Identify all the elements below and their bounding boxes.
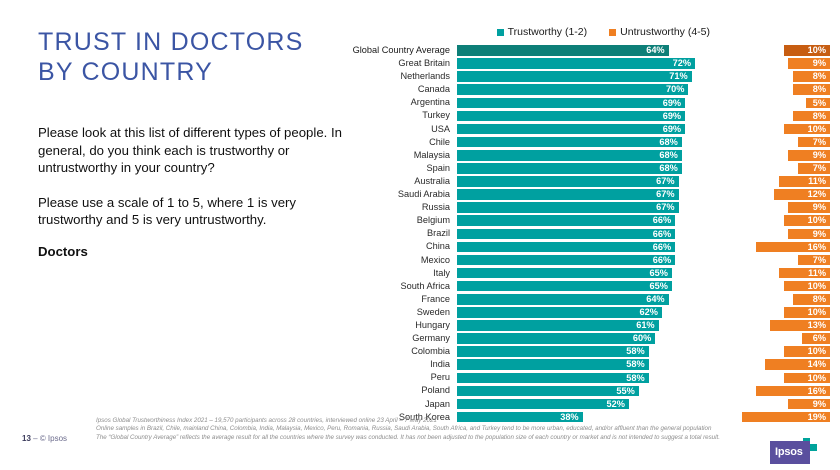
untrustworthy-bar[interactable]: 6% xyxy=(802,333,830,344)
untrustworthy-bar-area: 9% xyxy=(698,229,830,240)
trustworthy-bar[interactable]: 58% xyxy=(457,359,649,370)
untrustworthy-bar[interactable]: 10% xyxy=(784,281,830,292)
trustworthy-bar-area: 66% xyxy=(457,215,697,226)
chart-row: Spain68%7% xyxy=(340,162,840,175)
untrustworthy-bar[interactable]: 16% xyxy=(756,242,830,253)
trustworthy-bar-area: 61% xyxy=(457,320,697,331)
trustworthy-bar-area: 65% xyxy=(457,268,697,279)
trustworthy-bar[interactable]: 66% xyxy=(457,255,675,266)
untrustworthy-value: 8% xyxy=(813,294,826,305)
chart-row: Canada70%8% xyxy=(340,83,840,96)
trustworthy-bar-area: 68% xyxy=(457,163,697,174)
page-number: 13 – © Ipsos xyxy=(22,434,67,443)
untrustworthy-value: 10% xyxy=(808,281,826,292)
logo-wordmark: Ipsos xyxy=(775,446,803,458)
trustworthy-bar-area: 58% xyxy=(457,373,697,384)
untrustworthy-value: 10% xyxy=(808,346,826,357)
untrustworthy-bar[interactable]: 13% xyxy=(770,320,830,331)
category-label: Mexico xyxy=(340,254,450,267)
trustworthy-bar-area: 69% xyxy=(457,98,697,109)
untrustworthy-bar[interactable]: 9% xyxy=(788,229,830,240)
chart-row: Japan52%9% xyxy=(340,398,840,411)
untrustworthy-bar[interactable]: 5% xyxy=(806,98,830,109)
untrustworthy-bar-area: 5% xyxy=(698,98,830,109)
question-paragraph-1: Please look at this list of different ty… xyxy=(38,124,348,177)
ipsos-logo: Ipsos xyxy=(770,438,822,464)
chart-row: South Africa65%10% xyxy=(340,280,840,293)
untrustworthy-bar-area: 7% xyxy=(698,163,830,174)
chart-row: Saudi Arabia67%12% xyxy=(340,188,840,201)
untrustworthy-value: 16% xyxy=(808,242,826,253)
trustworthy-bar[interactable]: 70% xyxy=(457,84,688,95)
untrustworthy-value: 14% xyxy=(808,359,826,370)
trustworthy-value: 66% xyxy=(653,215,671,226)
untrustworthy-bar[interactable]: 10% xyxy=(784,307,830,318)
category-label: Brazil xyxy=(340,227,450,240)
trustworthy-bar-area: 69% xyxy=(457,124,697,135)
untrustworthy-value: 12% xyxy=(808,189,826,200)
untrustworthy-value: 6% xyxy=(813,333,826,344)
untrustworthy-value: 8% xyxy=(813,111,826,122)
trustworthy-bar[interactable]: 69% xyxy=(457,111,685,122)
category-label: Colombia xyxy=(340,345,450,358)
untrustworthy-bar[interactable]: 8% xyxy=(793,84,830,95)
trustworthy-value: 58% xyxy=(626,346,644,357)
trustworthy-bar[interactable]: 71% xyxy=(457,71,692,82)
untrustworthy-value: 13% xyxy=(808,320,826,331)
trustworthy-bar[interactable]: 66% xyxy=(457,215,675,226)
trustworthy-value: 72% xyxy=(673,58,691,69)
untrustworthy-bar[interactable]: 7% xyxy=(798,137,830,148)
untrustworthy-bar[interactable]: 7% xyxy=(798,163,830,174)
trustworthy-value: 64% xyxy=(646,45,664,56)
category-label: Sweden xyxy=(340,306,450,319)
untrustworthy-bar[interactable]: 16% xyxy=(756,386,830,397)
legend-label-untrustworthy: Untrustworthy (4-5) xyxy=(620,26,710,38)
trustworthy-value: 68% xyxy=(659,163,677,174)
trustworthy-value: 64% xyxy=(646,294,664,305)
chart-row: Colombia58%10% xyxy=(340,345,840,358)
untrustworthy-bar[interactable]: 9% xyxy=(788,150,830,161)
trustworthy-bar[interactable]: 69% xyxy=(457,98,685,109)
legend-item-untrustworthy[interactable]: Untrustworthy (4-5) xyxy=(609,26,710,38)
untrustworthy-bar-area: 10% xyxy=(698,215,830,226)
trustworthy-bar-area: 67% xyxy=(457,202,697,213)
trustworthy-bar[interactable]: 58% xyxy=(457,373,649,384)
untrustworthy-value: 7% xyxy=(813,163,826,174)
category-label: Canada xyxy=(340,83,450,96)
page-title-line1: TRUST IN DOCTORS xyxy=(38,27,338,57)
untrustworthy-value: 7% xyxy=(813,255,826,266)
legend-label-trustworthy: Trustworthy (1-2) xyxy=(508,26,588,38)
page-number-value: 13 xyxy=(22,434,31,443)
trustworthy-value: 71% xyxy=(669,71,687,82)
question-block: Please look at this list of different ty… xyxy=(38,124,348,229)
untrustworthy-value: 9% xyxy=(813,150,826,161)
untrustworthy-bar-area: 12% xyxy=(698,189,830,200)
question-subject: Doctors xyxy=(38,244,88,259)
chart-row: Italy65%11% xyxy=(340,267,840,280)
trustworthy-bar-area: 55% xyxy=(457,386,697,397)
chart: Trustworthy (1-2) Untrustworthy (4-5) Gl… xyxy=(340,26,840,421)
question-paragraph-2: Please use a scale of 1 to 5, where 1 is… xyxy=(38,194,348,229)
trustworthy-bar[interactable]: 58% xyxy=(457,346,649,357)
untrustworthy-bar-area: 16% xyxy=(698,242,830,253)
trustworthy-value: 67% xyxy=(656,189,674,200)
chart-row: Australia67%11% xyxy=(340,175,840,188)
chart-row: USA69%10% xyxy=(340,123,840,136)
trustworthy-bar-area: 65% xyxy=(457,281,697,292)
trustworthy-value: 67% xyxy=(656,176,674,187)
category-label: Saudi Arabia xyxy=(340,188,450,201)
trustworthy-bar[interactable]: 55% xyxy=(457,386,639,397)
untrustworthy-bar[interactable]: 10% xyxy=(784,45,830,56)
untrustworthy-bar[interactable]: 9% xyxy=(788,202,830,213)
untrustworthy-bar[interactable]: 11% xyxy=(779,176,830,187)
untrustworthy-bar[interactable]: 10% xyxy=(784,124,830,135)
untrustworthy-value: 11% xyxy=(808,176,826,187)
chart-row: Sweden62%10% xyxy=(340,306,840,319)
trustworthy-bar[interactable]: 72% xyxy=(457,58,695,69)
trustworthy-value: 58% xyxy=(626,373,644,384)
trustworthy-bar-area: 70% xyxy=(457,84,697,95)
category-label: Poland xyxy=(340,384,450,397)
footnote: Ipsos Global Trustworthiness Index 2021 … xyxy=(96,417,746,442)
trustworthy-bar-area: 62% xyxy=(457,307,697,318)
left-panel: TRUST IN DOCTORS BY COUNTRY Please look … xyxy=(0,0,350,470)
trustworthy-bar-area: 58% xyxy=(457,346,697,357)
untrustworthy-value: 9% xyxy=(813,58,826,69)
untrustworthy-value: 10% xyxy=(808,215,826,226)
legend-swatch-untrustworthy xyxy=(609,29,616,36)
trustworthy-bar[interactable]: 62% xyxy=(457,307,662,318)
untrustworthy-bar-area: 10% xyxy=(698,45,830,56)
trustworthy-bar[interactable]: 68% xyxy=(457,137,682,148)
footnote-line-1: Ipsos Global Trustworthiness Index 2021 … xyxy=(96,417,746,425)
slide: TRUST IN DOCTORS BY COUNTRY Please look … xyxy=(0,0,840,470)
untrustworthy-value: 11% xyxy=(808,268,826,279)
chart-row: Malaysia68%9% xyxy=(340,149,840,162)
trustworthy-bar[interactable]: 65% xyxy=(457,268,672,279)
category-label: Spain xyxy=(340,162,450,175)
trustworthy-bar[interactable]: 67% xyxy=(457,176,679,187)
trustworthy-bar-area: 52% xyxy=(457,399,697,410)
trustworthy-bar[interactable]: 60% xyxy=(457,333,655,344)
footnote-line-3: The “Global Country Average” reflects th… xyxy=(96,434,746,442)
untrustworthy-value: 10% xyxy=(808,124,826,135)
trustworthy-value: 67% xyxy=(656,202,674,213)
chart-row: Peru58%10% xyxy=(340,371,840,384)
untrustworthy-bar[interactable]: 8% xyxy=(793,111,830,122)
untrustworthy-bar-area: 8% xyxy=(698,71,830,82)
category-label: Netherlands xyxy=(340,70,450,83)
chart-row: Chile68%7% xyxy=(340,136,840,149)
page-title: TRUST IN DOCTORS BY COUNTRY xyxy=(38,27,338,87)
untrustworthy-bar-area: 13% xyxy=(698,320,830,331)
chart-row: Global Country Average64%10% xyxy=(340,44,840,57)
trustworthy-bar[interactable]: 52% xyxy=(457,399,629,410)
category-label: Italy xyxy=(340,267,450,280)
chart-row: France64%8% xyxy=(340,293,840,306)
trustworthy-value: 69% xyxy=(663,98,681,109)
trustworthy-value: 60% xyxy=(633,333,651,344)
trustworthy-bar-area: 68% xyxy=(457,150,697,161)
trustworthy-bar[interactable]: 67% xyxy=(457,189,679,200)
chart-row: Great Britain72%9% xyxy=(340,57,840,70)
legend-swatch-trustworthy xyxy=(497,29,504,36)
untrustworthy-bar[interactable]: 8% xyxy=(793,294,830,305)
trustworthy-bar-area: 67% xyxy=(457,189,697,200)
untrustworthy-bar-area: 10% xyxy=(698,373,830,384)
category-label: Peru xyxy=(340,371,450,384)
chart-row: Belgium66%10% xyxy=(340,214,840,227)
trustworthy-bar-area: 69% xyxy=(457,111,697,122)
category-label: Germany xyxy=(340,332,450,345)
untrustworthy-bar[interactable]: 14% xyxy=(765,359,830,370)
trustworthy-bar[interactable]: 69% xyxy=(457,124,685,135)
copyright-label: – © Ipsos xyxy=(33,434,67,443)
untrustworthy-bar-area: 8% xyxy=(698,84,830,95)
trustworthy-value: 65% xyxy=(650,268,668,279)
category-label: China xyxy=(340,240,450,253)
untrustworthy-bar-area: 8% xyxy=(698,111,830,122)
trustworthy-value: 55% xyxy=(616,386,634,397)
trustworthy-bar-area: 64% xyxy=(457,45,697,56)
untrustworthy-bar-area: 7% xyxy=(698,137,830,148)
untrustworthy-bar[interactable]: 9% xyxy=(788,399,830,410)
category-label: Hungary xyxy=(340,319,450,332)
untrustworthy-bar[interactable]: 10% xyxy=(784,373,830,384)
trustworthy-bar-area: 72% xyxy=(457,58,697,69)
category-label: Argentina xyxy=(340,96,450,109)
chart-row: Argentina69%5% xyxy=(340,96,840,109)
untrustworthy-bar-area: 10% xyxy=(698,281,830,292)
chart-row: Russia67%9% xyxy=(340,201,840,214)
trustworthy-bar-area: 60% xyxy=(457,333,697,344)
untrustworthy-value: 9% xyxy=(813,202,826,213)
untrustworthy-value: 9% xyxy=(813,399,826,410)
trustworthy-bar-area: 66% xyxy=(457,242,697,253)
chart-row: Poland55%16% xyxy=(340,384,840,397)
category-label: Chile xyxy=(340,136,450,149)
category-label: Belgium xyxy=(340,214,450,227)
untrustworthy-bar-area: 16% xyxy=(698,386,830,397)
trustworthy-value: 69% xyxy=(663,124,681,135)
trustworthy-bar-area: 67% xyxy=(457,176,697,187)
chart-legend: Trustworthy (1-2) Untrustworthy (4-5) xyxy=(497,26,710,38)
untrustworthy-bar-area: 11% xyxy=(698,176,830,187)
category-label: Russia xyxy=(340,201,450,214)
category-label: Turkey xyxy=(340,109,450,122)
chart-row: Turkey69%8% xyxy=(340,109,840,122)
untrustworthy-value: 8% xyxy=(813,71,826,82)
trustworthy-value: 52% xyxy=(607,399,625,410)
trustworthy-value: 65% xyxy=(650,281,668,292)
paragraph-spacer xyxy=(38,177,348,194)
trustworthy-bar-area: 58% xyxy=(457,359,697,370)
untrustworthy-bar[interactable]: 19% xyxy=(742,412,830,423)
trustworthy-value: 66% xyxy=(653,255,671,266)
trustworthy-bar[interactable]: 65% xyxy=(457,281,672,292)
trustworthy-bar[interactable]: 66% xyxy=(457,242,675,253)
untrustworthy-bar-area: 9% xyxy=(698,202,830,213)
category-label: Malaysia xyxy=(340,149,450,162)
trustworthy-value: 68% xyxy=(659,137,677,148)
untrustworthy-bar[interactable]: 9% xyxy=(788,58,830,69)
untrustworthy-bar-area: 10% xyxy=(698,124,830,135)
trustworthy-bar-area: 71% xyxy=(457,71,697,82)
untrustworthy-bar-area: 10% xyxy=(698,307,830,318)
legend-item-trustworthy[interactable]: Trustworthy (1-2) xyxy=(497,26,588,38)
untrustworthy-value: 5% xyxy=(813,98,826,109)
trustworthy-value: 66% xyxy=(653,229,671,240)
untrustworthy-bar-area: 7% xyxy=(698,255,830,266)
untrustworthy-value: 7% xyxy=(813,137,826,148)
trustworthy-bar-area: 66% xyxy=(457,229,697,240)
category-label: South Africa xyxy=(340,280,450,293)
untrustworthy-bar[interactable]: 11% xyxy=(779,268,830,279)
chart-row: China66%16% xyxy=(340,240,840,253)
untrustworthy-bar-area: 14% xyxy=(698,359,830,370)
untrustworthy-value: 10% xyxy=(808,45,826,56)
category-label: USA xyxy=(340,123,450,136)
untrustworthy-bar[interactable]: 12% xyxy=(774,189,830,200)
trustworthy-value: 58% xyxy=(626,359,644,370)
untrustworthy-bar[interactable]: 7% xyxy=(798,255,830,266)
untrustworthy-bar-area: 9% xyxy=(698,58,830,69)
trustworthy-bar[interactable]: 64% xyxy=(457,294,669,305)
trustworthy-value: 70% xyxy=(666,84,684,95)
trustworthy-value: 66% xyxy=(653,242,671,253)
trustworthy-bar-area: 64% xyxy=(457,294,697,305)
trustworthy-value: 61% xyxy=(636,320,654,331)
page-title-line2: BY COUNTRY xyxy=(38,57,338,87)
trustworthy-bar[interactable]: 67% xyxy=(457,202,679,213)
trustworthy-value: 68% xyxy=(659,150,677,161)
untrustworthy-bar-area: 11% xyxy=(698,268,830,279)
untrustworthy-bar-area: 9% xyxy=(698,399,830,410)
trustworthy-bar[interactable]: 66% xyxy=(457,229,675,240)
untrustworthy-value: 9% xyxy=(813,229,826,240)
trustworthy-bar[interactable]: 68% xyxy=(457,163,682,174)
untrustworthy-value: 8% xyxy=(813,84,826,95)
untrustworthy-bar[interactable]: 10% xyxy=(784,215,830,226)
category-label: Great Britain xyxy=(340,57,450,70)
category-label: Global Country Average xyxy=(340,44,450,57)
chart-row: Mexico66%7% xyxy=(340,254,840,267)
trustworthy-bar-area: 66% xyxy=(457,255,697,266)
category-label: France xyxy=(340,293,450,306)
category-label: Australia xyxy=(340,175,450,188)
trustworthy-value: 62% xyxy=(640,307,658,318)
untrustworthy-bar[interactable]: 10% xyxy=(784,346,830,357)
untrustworthy-value: 10% xyxy=(808,307,826,318)
trustworthy-bar[interactable]: 64% xyxy=(457,45,669,56)
untrustworthy-value: 19% xyxy=(808,412,826,423)
category-label: India xyxy=(340,358,450,371)
trustworthy-bar[interactable]: 61% xyxy=(457,320,659,331)
chart-row: Hungary61%13% xyxy=(340,319,840,332)
chart-row: Netherlands71%8% xyxy=(340,70,840,83)
trustworthy-value: 69% xyxy=(663,111,681,122)
untrustworthy-bar-area: 9% xyxy=(698,150,830,161)
untrustworthy-bar-area: 6% xyxy=(698,333,830,344)
untrustworthy-value: 10% xyxy=(808,373,826,384)
trustworthy-bar[interactable]: 68% xyxy=(457,150,682,161)
untrustworthy-bar[interactable]: 8% xyxy=(793,71,830,82)
chart-row: India58%14% xyxy=(340,358,840,371)
untrustworthy-bar-area: 10% xyxy=(698,346,830,357)
untrustworthy-bar-area: 8% xyxy=(698,294,830,305)
untrustworthy-value: 16% xyxy=(808,386,826,397)
chart-row: Brazil66%9% xyxy=(340,227,840,240)
category-label: Japan xyxy=(340,398,450,411)
footnote-line-2: Online samples in Brazil, Chile, mainlan… xyxy=(96,425,746,433)
chart-row: Germany60%6% xyxy=(340,332,840,345)
trustworthy-bar-area: 68% xyxy=(457,137,697,148)
chart-rows: Global Country Average64%10%Great Britai… xyxy=(340,44,840,424)
